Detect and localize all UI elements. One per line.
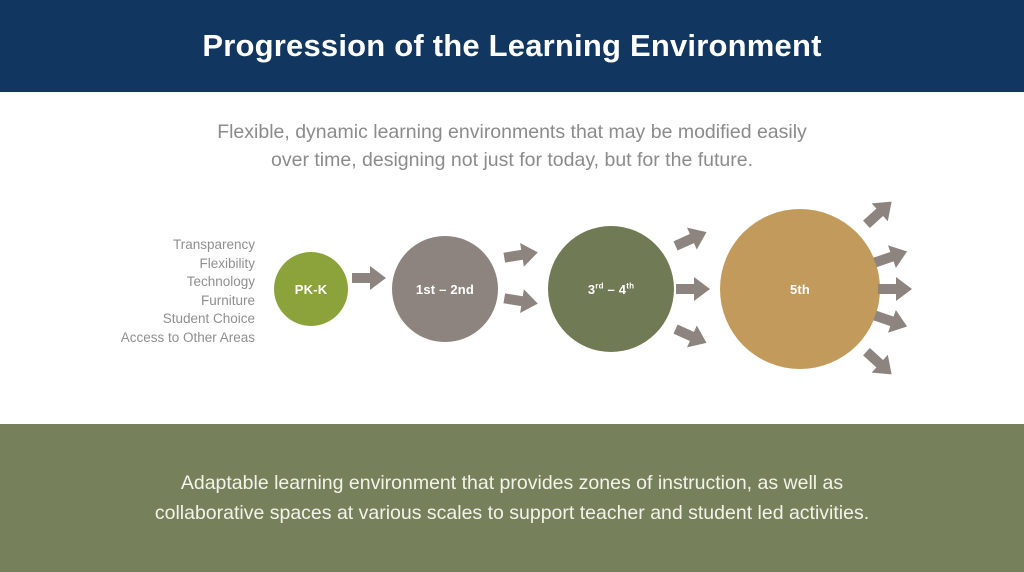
footer-line-1: Adaptable learning environment that prov… (72, 468, 952, 498)
attribute-item-transparency: Transparency (60, 236, 255, 255)
arrow-grade-5-radiate-4 (871, 303, 912, 339)
arrow-grade-3-4-to-grade-5-middle (676, 276, 710, 302)
arrow-grade-1-2-to-grade-3-4-upper (502, 240, 540, 271)
arrow-grade-3-4-to-grade-5-lower (670, 317, 712, 355)
arrow-grade-5-radiate-3 (878, 276, 912, 302)
subtitle-line-2: over time, designing not just for today,… (0, 146, 1024, 174)
footer-text: Adaptable learning environment that prov… (72, 468, 952, 528)
arrow-grade-1-2-to-grade-3-4-lower (502, 286, 540, 317)
stage-circle-grade-3-4: 3rd – 4th (548, 226, 674, 352)
stage-circle-grade-5: 5th (720, 209, 880, 369)
stage-label-grade-3-4-mid: – 4 (604, 282, 626, 297)
footer-band: Adaptable learning environment that prov… (0, 424, 1024, 572)
stage-label-grade-3-4-sup1: rd (595, 281, 603, 290)
stage-label-grade-3-4: 3rd – 4th (588, 282, 634, 297)
stage-circle-grade-1-2: 1st – 2nd (392, 236, 498, 342)
subtitle-line-1: Flexible, dynamic learning environments … (0, 118, 1024, 146)
attribute-item-furniture: Furniture (60, 292, 255, 311)
stage-label-grade-1-2: 1st – 2nd (416, 282, 474, 297)
subtitle-text: Flexible, dynamic learning environments … (0, 118, 1024, 174)
attribute-list: Transparency Flexibility Technology Furn… (60, 236, 255, 347)
slide: Progression of the Learning Environment … (0, 0, 1024, 572)
arrow-grade-3-4-to-grade-5-upper (670, 220, 712, 258)
arrow-grade-5-radiate-5 (858, 342, 901, 384)
stage-label-pk-k: PK-K (295, 282, 328, 297)
attribute-item-flexibility: Flexibility (60, 255, 255, 274)
stage-label-grade-5: 5th (790, 282, 810, 297)
attribute-item-technology: Technology (60, 273, 255, 292)
arrow-grade-5-radiate-2 (871, 239, 912, 275)
arrow-pk-k-to-grade-1-2 (352, 265, 386, 291)
stage-label-grade-3-4-sup2: th (626, 281, 634, 290)
footer-line-2: collaborative spaces at various scales t… (72, 498, 952, 528)
page-title: Progression of the Learning Environment (202, 29, 821, 63)
progression-diagram: Transparency Flexibility Technology Furn… (0, 190, 1024, 390)
header-band: Progression of the Learning Environment (0, 0, 1024, 92)
arrow-grade-5-radiate-1 (858, 192, 901, 234)
stage-circle-pk-k: PK-K (274, 252, 348, 326)
attribute-item-student-choice: Student Choice (60, 310, 255, 329)
attribute-item-access-to-other-areas: Access to Other Areas (60, 329, 255, 348)
